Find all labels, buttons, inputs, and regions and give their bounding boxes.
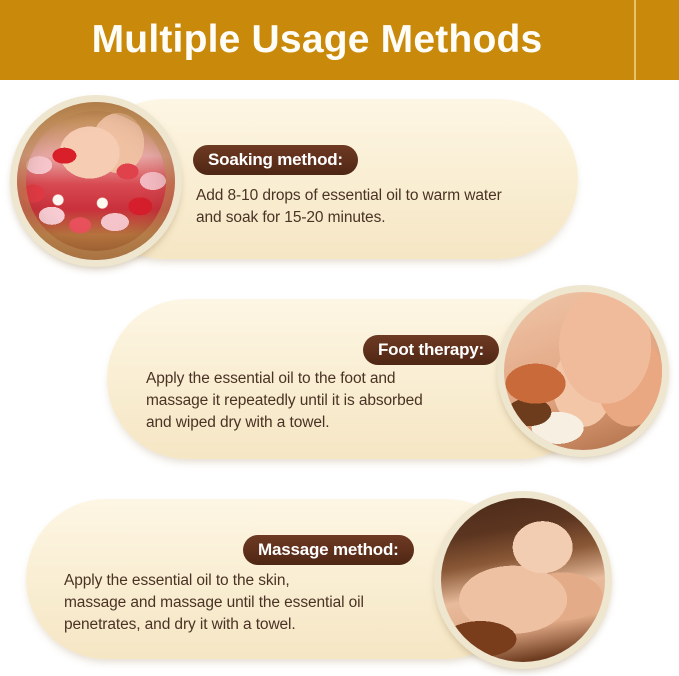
photo-foot-reflexology-massage [497, 285, 669, 457]
photo-feet-soaking-in-wooden-basin-with-rose-petals [10, 95, 182, 267]
photo-image [504, 292, 662, 450]
description-soaking-method: Add 8-10 drops of essential oil to warm … [196, 185, 581, 229]
badge-massage-method: Massage method: [243, 535, 414, 565]
badge-soaking-method: Soaking method: [193, 145, 358, 175]
photo-back-massage-with-oil [434, 491, 612, 669]
header-divider [634, 0, 636, 80]
description-massage-method: Apply the essential oil to the skin, mas… [64, 570, 414, 636]
usage-methods-infographic: Multiple Usage Methods Soaking method: A… [0, 0, 679, 676]
photo-frame [17, 102, 175, 260]
photo-frame [441, 498, 605, 662]
badge-foot-therapy: Foot therapy: [363, 335, 499, 365]
header-banner: Multiple Usage Methods [0, 0, 679, 80]
description-foot-therapy: Apply the essential oil to the foot and … [146, 368, 496, 434]
photo-image [441, 498, 605, 662]
basin-rim-overlay [17, 102, 175, 260]
page-title: Multiple Usage Methods [0, 0, 634, 80]
photo-frame [504, 292, 662, 450]
